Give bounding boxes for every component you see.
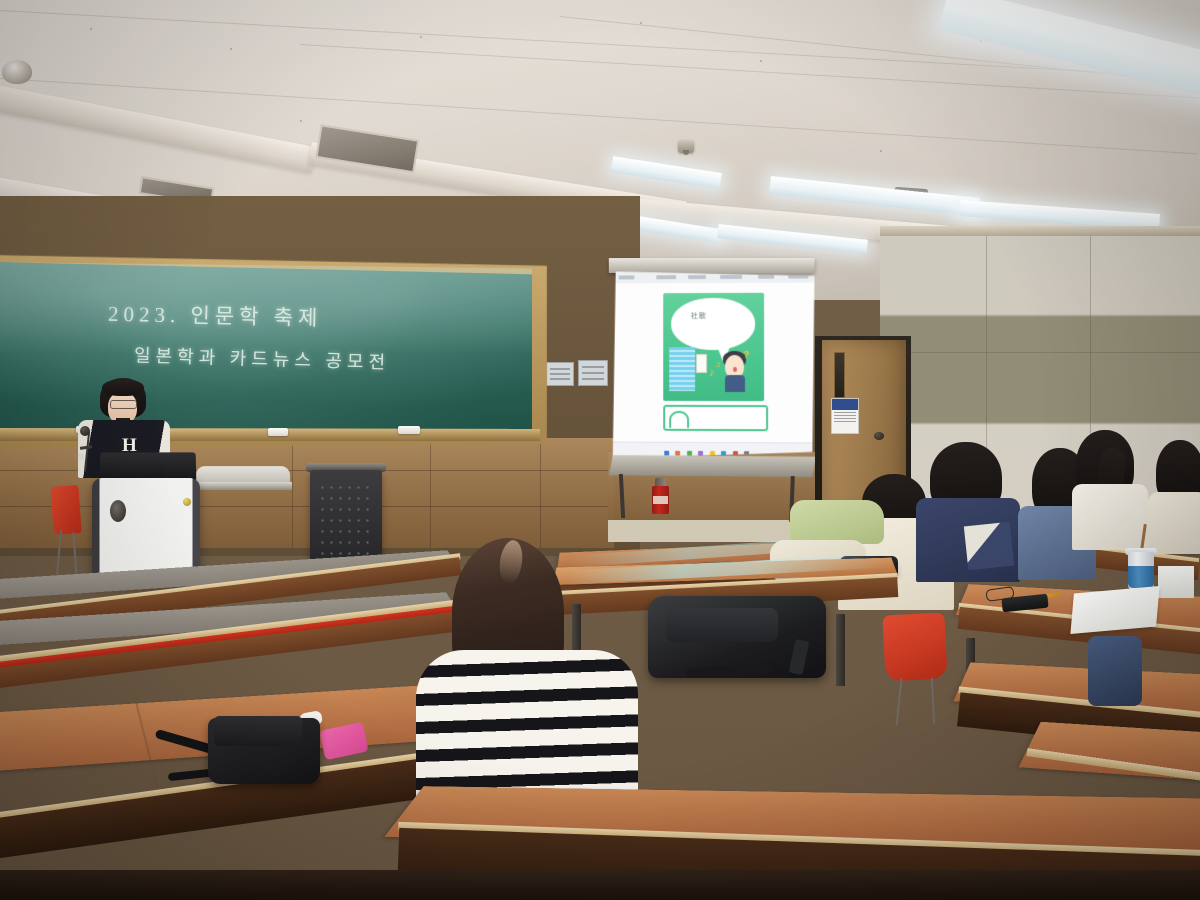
- podium-handle-icon: [110, 500, 126, 522]
- sprinkler-icon: [678, 140, 694, 153]
- ceiling-speck: [230, 48, 232, 50]
- backpack-flap: [666, 608, 778, 642]
- door-notice: [831, 398, 859, 434]
- microphone-icon: [80, 426, 90, 436]
- wood-panel-line: [430, 442, 431, 548]
- glasses-icon: [110, 400, 137, 409]
- projection-screen-housing: [609, 258, 815, 273]
- projection-screen: 社歌 ♪ ♫ ?: [613, 270, 815, 459]
- chair-leg: [931, 678, 935, 724]
- student-cream-top: [1148, 492, 1200, 554]
- speech-bubble: [671, 298, 756, 350]
- fire-extinguisher-label: [653, 496, 668, 504]
- question-mark-icon: ?: [743, 350, 749, 361]
- wall-seam: [880, 352, 1200, 353]
- building-sign: [696, 354, 707, 373]
- chair-leg: [895, 678, 902, 726]
- jacket-number: 9: [79, 452, 84, 462]
- desk-leg: [836, 614, 845, 686]
- ceiling-speck: [420, 36, 422, 38]
- wall-notice-right: [578, 360, 608, 386]
- building-illustration: [669, 347, 695, 390]
- card-news-caption-panel: [663, 404, 768, 431]
- projection-screen-bottom-bar: [609, 455, 817, 477]
- student-white-top: [1072, 484, 1148, 550]
- door-knob-icon[interactable]: [874, 432, 884, 440]
- chalkboard-title-line1: 2023. 인문학 축제: [108, 298, 323, 332]
- browser-content: 社歌 ♪ ♫ ?: [613, 283, 815, 444]
- ceiling-speck: [880, 150, 882, 152]
- bag-flap: [214, 716, 302, 746]
- ceiling-dome-light: [2, 60, 32, 84]
- caption-arc: [669, 410, 689, 428]
- green-coat: [790, 500, 884, 544]
- door-notice-header: [832, 399, 858, 410]
- music-note-icon: ♪: [709, 367, 714, 379]
- student-jeans: [1088, 636, 1142, 706]
- ceiling-speck: [640, 22, 642, 24]
- speech-bubble-text: 社歌: [691, 311, 707, 321]
- podium-badge-icon: [183, 498, 191, 506]
- side-table-rail: [200, 482, 292, 490]
- wood-panel-line: [292, 440, 293, 548]
- ceiling-speck: [760, 60, 762, 62]
- wood-panel-line: [540, 444, 541, 548]
- character-body: [725, 375, 745, 391]
- paper-sheet[interactable]: [1070, 586, 1159, 634]
- student-argyle-pattern: [964, 522, 1014, 571]
- coffee-cup-band: [1128, 566, 1154, 588]
- ceiling-speck: [90, 28, 92, 30]
- eraser[interactable]: [398, 426, 420, 434]
- eraser[interactable]: [268, 428, 288, 436]
- card-news-slide: 社歌 ♪ ♫ ?: [663, 292, 764, 401]
- door-window-icon: [834, 352, 845, 398]
- wall-notice-left: [546, 362, 574, 386]
- presenter-bangs: [102, 379, 144, 396]
- red-chair[interactable]: [882, 612, 947, 681]
- floor-shadow: [0, 870, 1200, 900]
- ceiling-speck: [300, 120, 302, 122]
- music-note-icon: ♫: [715, 360, 721, 369]
- paper-block[interactable]: [1158, 566, 1194, 598]
- lecture-hall-photo: 2023. 인문학 축제 일본학과 카드뉴스 공모전 社歌 ♪ ♫: [0, 0, 1200, 900]
- red-chair[interactable]: [50, 485, 81, 535]
